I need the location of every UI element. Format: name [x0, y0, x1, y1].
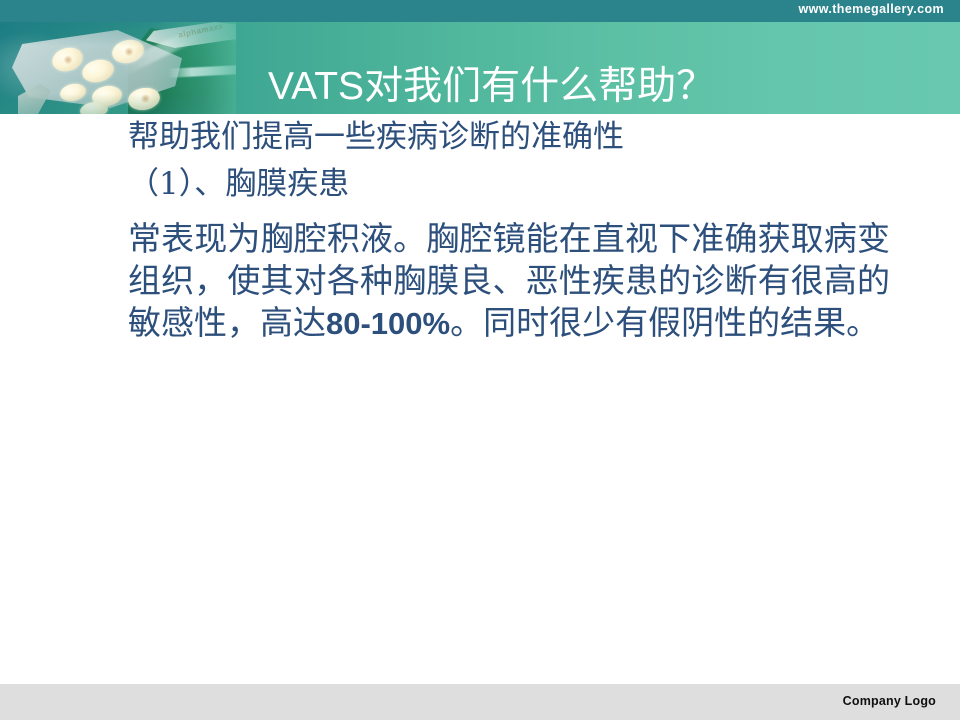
body-paragraph: 常表现为胸腔积液。胸腔镜能在直视下准确获取病变组织，使其对各种胸膜良、恶性疾患的…: [128, 218, 890, 345]
photo-gradient-fade: [150, 22, 236, 114]
top-url-bar: www.themegallery.com: [0, 0, 960, 22]
slide-title: VATS对我们有什么帮助？: [268, 64, 715, 110]
paragraph-text-after: 。同时很少有假阴性的结果。: [450, 303, 879, 342]
surgical-lamp-photo: alphamaxx: [0, 22, 236, 114]
lead-line-1: 帮助我们提高一些疾病诊断的准确性: [128, 114, 898, 161]
slide: www.themegallery.com alphamaxx VATS对我们有什…: [0, 0, 960, 720]
title-banner: alphamaxx VATS对我们有什么帮助？: [0, 22, 960, 114]
slide-title-latin: VATS: [268, 65, 364, 108]
paragraph-figure: 80-100%: [326, 306, 450, 341]
slide-title-cjk: 对我们有什么帮助？: [364, 65, 715, 108]
lead-line-2: （1）、胸膜疾患: [128, 161, 898, 208]
footer-bar: Company Logo: [0, 684, 960, 720]
company-logo-label: Company Logo: [843, 694, 936, 708]
slide-content: 帮助我们提高一些疾病诊断的准确性 （1）、胸膜疾患 常表现为胸腔积液。胸腔镜能在…: [128, 114, 898, 345]
site-url-label: www.themegallery.com: [798, 2, 944, 16]
